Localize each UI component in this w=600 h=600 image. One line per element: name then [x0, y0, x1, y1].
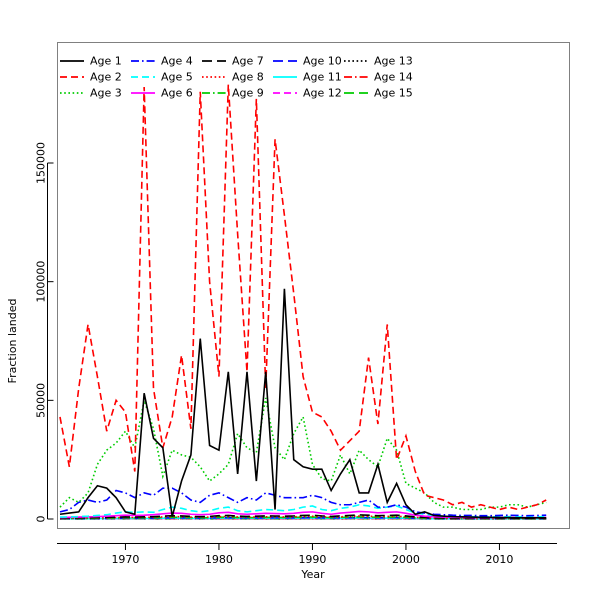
- legend-label-age-14: Age 14: [374, 71, 413, 84]
- x-tick-label: 2010: [485, 553, 513, 566]
- legend-label-age-3: Age 3: [90, 87, 122, 100]
- legend-label-age-6: Age 6: [161, 87, 193, 100]
- legend-label-age-8: Age 8: [232, 71, 264, 84]
- legend-label-age-7: Age 7: [232, 55, 264, 68]
- legend: Age 1Age 2Age 3Age 4Age 5Age 6Age 7Age 8…: [53, 43, 413, 101]
- legend-label-age-5: Age 5: [161, 71, 193, 84]
- y-tick-label: 150000: [35, 142, 48, 184]
- series-line-age-1: [60, 289, 546, 518]
- legend-label-age-4: Age 4: [161, 55, 193, 68]
- chart-container: 050000100000150000 19701980199020002010 …: [0, 0, 600, 600]
- legend-label-age-11: Age 11: [303, 71, 342, 84]
- y-tick-group: 050000100000150000: [35, 142, 54, 523]
- y-tick-label: 0: [35, 516, 48, 523]
- series-line-age-3: [60, 398, 546, 510]
- x-tick-label: 1980: [205, 553, 233, 566]
- x-tick-label: 1990: [298, 553, 326, 566]
- legend-label-age-12: Age 12: [303, 87, 342, 100]
- legend-label-age-2: Age 2: [90, 71, 122, 84]
- x-tick-group: 19701980199020002010: [111, 544, 513, 567]
- line-chart: 050000100000150000 19701980199020002010 …: [0, 0, 600, 600]
- legend-label-age-9: Age 9: [232, 87, 264, 100]
- y-tick-label: 50000: [35, 383, 48, 418]
- y-tick-label: 100000: [35, 261, 48, 303]
- legend-label-age-1: Age 1: [90, 55, 122, 68]
- data-series-group: [60, 85, 546, 519]
- plot-frame: [58, 43, 570, 529]
- x-tick-label: 2000: [392, 553, 420, 566]
- legend-label-age-10: Age 10: [303, 55, 342, 68]
- legend-label-age-13: Age 13: [374, 55, 413, 68]
- y-axis-title: Fraction landed: [6, 299, 19, 384]
- x-tick-label: 1970: [111, 553, 139, 566]
- legend-label-age-15: Age 15: [374, 87, 413, 100]
- x-axis-title: Year: [300, 568, 325, 581]
